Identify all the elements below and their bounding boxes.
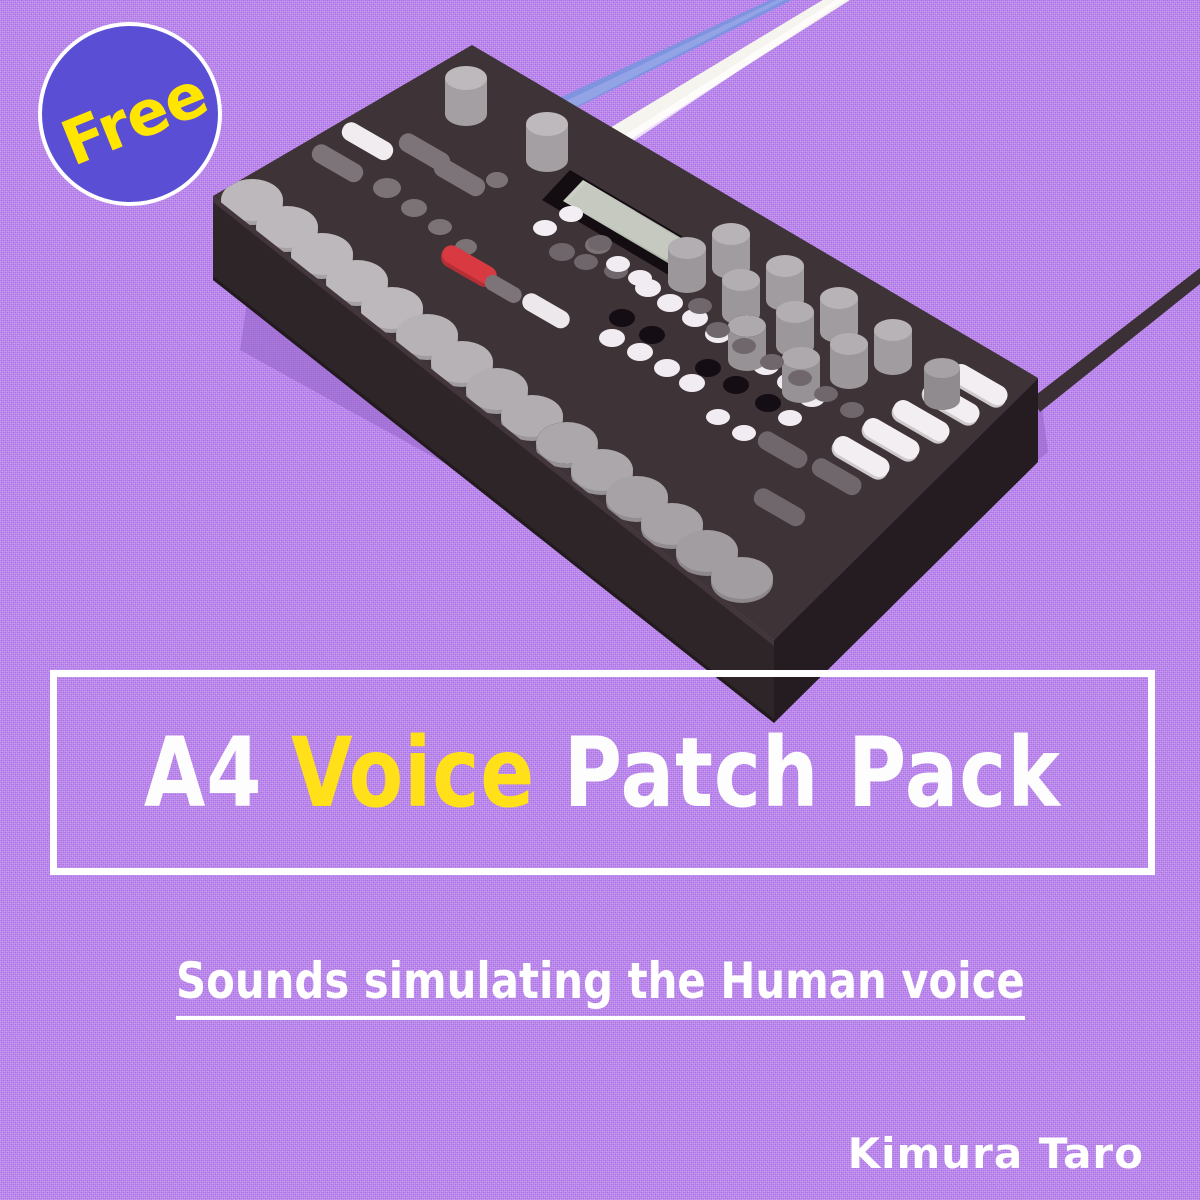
page-title: A4 Voice Patch Pack: [144, 725, 1061, 821]
dark-cable: [1032, 268, 1200, 412]
free-badge[interactable]: Free: [38, 22, 222, 206]
subtitle: Sounds simulating the Human voice: [0, 952, 1200, 1020]
title-highlight: Voice: [291, 717, 535, 829]
title-frame: A4 Voice Patch Pack: [50, 670, 1155, 875]
author-credit: Kimura Taro: [848, 1129, 1144, 1178]
title-part-2: Patch Pack: [535, 717, 1061, 829]
secondary-knob: [526, 112, 568, 172]
encoder-knob-column-right: [924, 358, 960, 410]
poster-canvas: Free A4 Voice Patch Pack Sounds simulati…: [0, 0, 1200, 1200]
title-part-1: A4: [144, 717, 291, 829]
subtitle-text: Sounds simulating the Human voice: [176, 952, 1025, 1020]
main-volume-knob: [445, 66, 487, 126]
